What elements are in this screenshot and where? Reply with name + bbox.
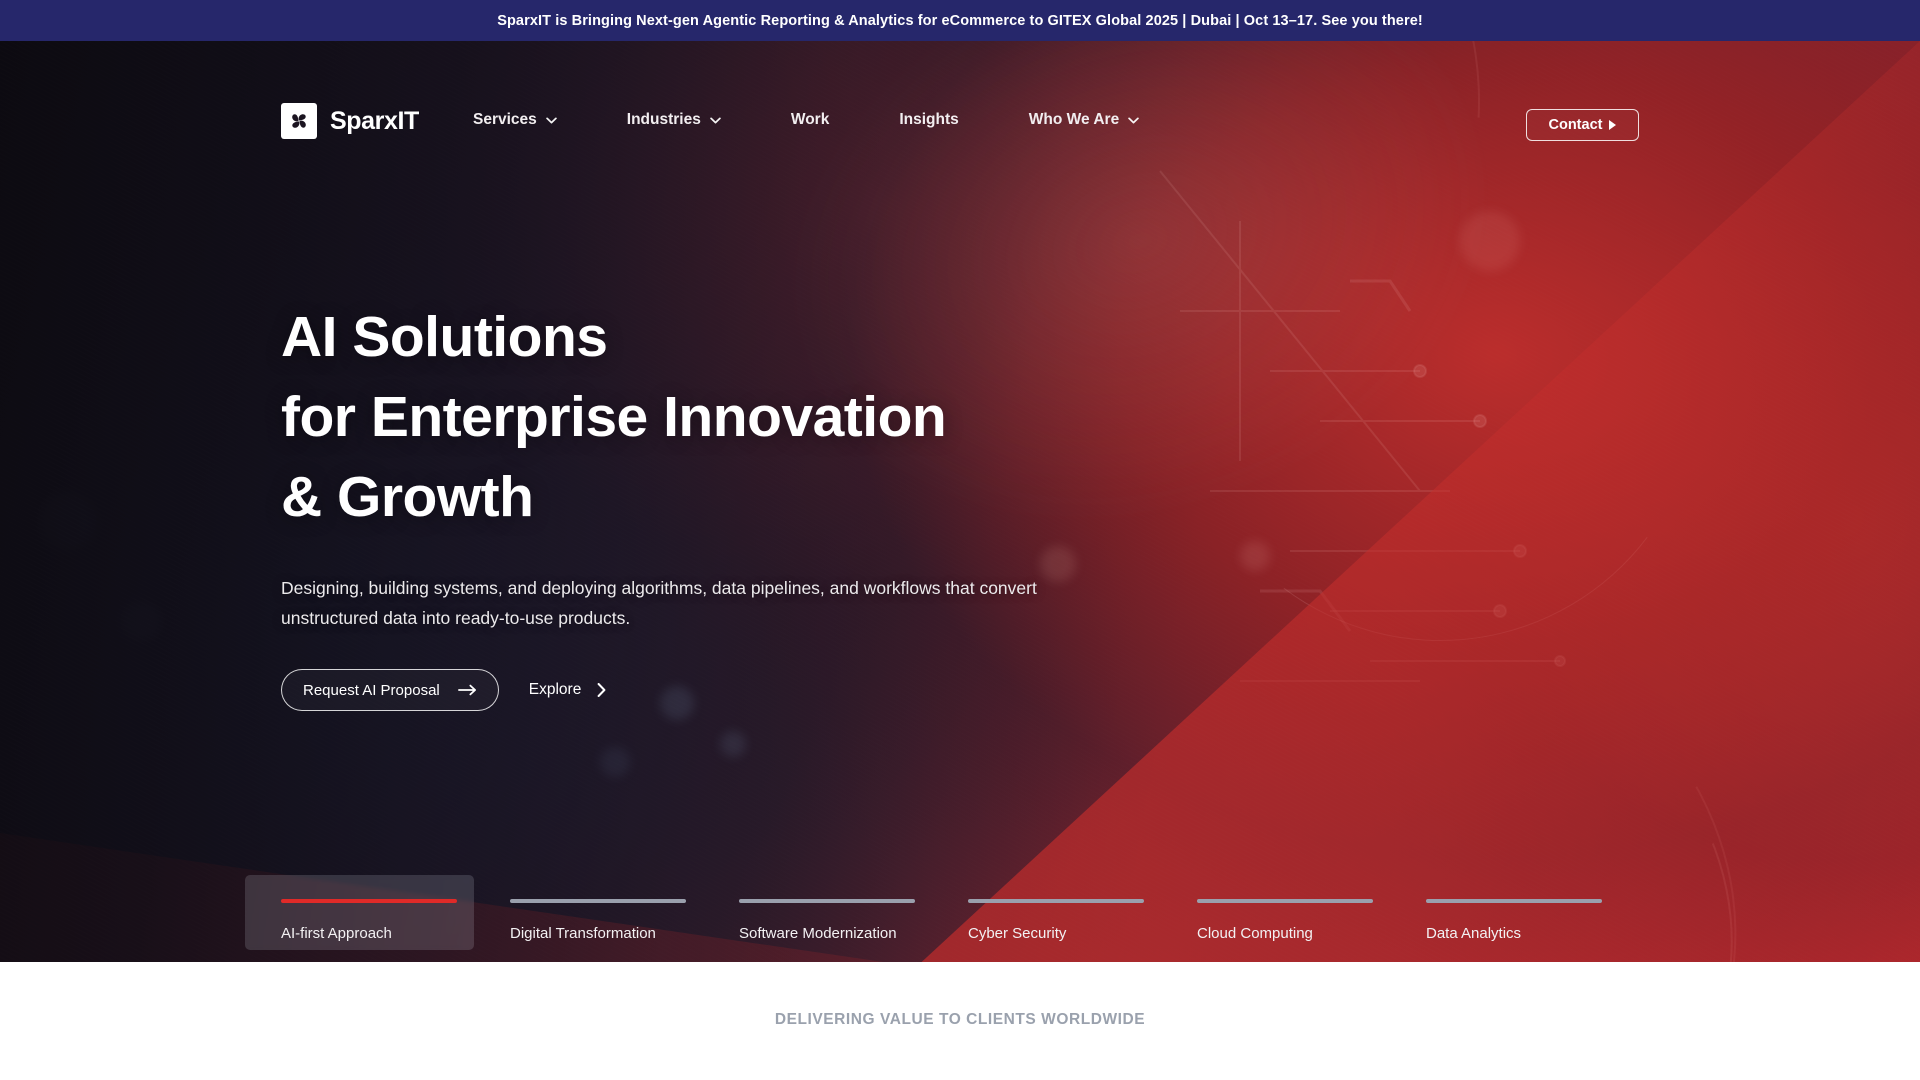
nav-item-work[interactable]: Work <box>756 111 864 129</box>
request-ai-proposal-label: Request AI Proposal <box>303 682 440 699</box>
nav-links: Services Industries Work Insights Who We… <box>473 111 1174 129</box>
main-navigation: SparxIT Services Industries Work Insight… <box>0 41 1920 141</box>
arrow-right-icon <box>458 684 477 696</box>
logo[interactable]: SparxIT <box>281 103 419 139</box>
tab-label: Digital Transformation <box>510 925 703 942</box>
explore-link[interactable]: Explore <box>521 681 615 699</box>
hero-cta-row: Request AI Proposal Explore <box>281 669 1681 711</box>
tab-label: Data Analytics <box>1426 925 1619 942</box>
nav-item-insights[interactable]: Insights <box>864 111 993 129</box>
tab-data-analytics[interactable]: Data Analytics <box>1390 875 1619 950</box>
contact-button[interactable]: Contact <box>1526 109 1639 141</box>
contact-button-label: Contact <box>1549 117 1603 133</box>
headline-line: for Enterprise Innovation <box>281 377 1681 457</box>
nav-item-industries[interactable]: Industries <box>592 111 756 129</box>
nav-item-services[interactable]: Services <box>473 111 592 129</box>
chevron-down-icon <box>1128 117 1139 124</box>
nav-item-label: Insights <box>899 111 958 129</box>
capability-tabs: AI-first Approach Digital Transformation… <box>245 875 1675 950</box>
hero-section: SparxIT Services Industries Work Insight… <box>0 41 1920 962</box>
tab-label: Cyber Security <box>968 925 1161 942</box>
nav-item-label: Industries <box>627 111 701 129</box>
tab-label: Cloud Computing <box>1197 925 1390 942</box>
explore-label: Explore <box>529 681 582 699</box>
tab-indicator-bar <box>1426 899 1602 903</box>
tab-indicator-bar <box>510 899 686 903</box>
nav-item-label: Who We Are <box>1029 111 1119 129</box>
nav-item-label: Services <box>473 111 537 129</box>
tab-software-modernization[interactable]: Software Modernization <box>703 875 932 950</box>
hero-content: AI Solutions for Enterprise Innovation &… <box>281 41 1681 711</box>
chevron-down-icon <box>546 117 557 124</box>
tab-indicator-bar <box>739 899 915 903</box>
tab-cloud-computing[interactable]: Cloud Computing <box>1161 875 1390 950</box>
headline-line: & Growth <box>281 457 1681 537</box>
tab-ai-first-approach[interactable]: AI-first Approach <box>245 875 474 950</box>
announcement-text: SparxIT is Bringing Next-gen Agentic Rep… <box>497 13 1423 29</box>
tab-indicator-bar <box>1197 899 1373 903</box>
tab-indicator-bar <box>281 899 457 903</box>
clients-band: DELIVERING VALUE TO CLIENTS WORLDWIDE <box>0 962 1920 1080</box>
tab-indicator-bar <box>968 899 1144 903</box>
logo-text: SparxIT <box>330 107 419 136</box>
tab-label: Software Modernization <box>739 925 932 942</box>
headline-line: AI Solutions <box>281 297 1681 377</box>
tab-cyber-security[interactable]: Cyber Security <box>932 875 1161 950</box>
clients-band-heading: DELIVERING VALUE TO CLIENTS WORLDWIDE <box>775 1011 1145 1029</box>
request-ai-proposal-button[interactable]: Request AI Proposal <box>281 669 499 711</box>
chevron-down-icon <box>710 117 721 124</box>
page-title: AI Solutions for Enterprise Innovation &… <box>281 297 1681 537</box>
nav-item-label: Work <box>791 111 829 129</box>
tab-digital-transformation[interactable]: Digital Transformation <box>474 875 703 950</box>
tab-label: AI-first Approach <box>281 925 474 942</box>
nav-item-who-we-are[interactable]: Who We Are <box>994 111 1174 129</box>
pinwheel-icon <box>281 103 317 139</box>
chevron-right-icon <box>597 683 606 697</box>
play-triangle-icon <box>1609 120 1616 130</box>
hero-subtitle: Designing, building systems, and deployi… <box>281 573 1111 633</box>
announcement-bar[interactable]: SparxIT is Bringing Next-gen Agentic Rep… <box>0 0 1920 41</box>
